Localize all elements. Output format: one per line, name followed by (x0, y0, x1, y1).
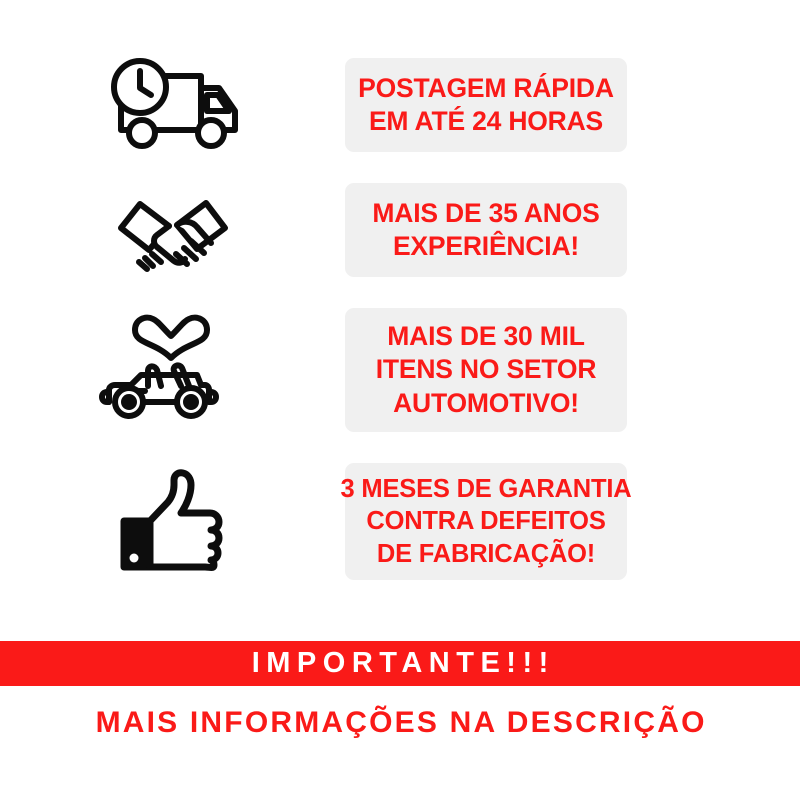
feature-line: EM ATÉ 24 HORAS (369, 105, 603, 138)
feature-row-warranty: 3 MESES DE GARANTIA CONTRA DEFEITOS DE F… (0, 463, 800, 580)
promo-banner-page: POSTAGEM RÁPIDA EM ATÉ 24 HORAS (0, 0, 800, 800)
car-heart-icon (0, 314, 345, 426)
feature-row-shipping: POSTAGEM RÁPIDA EM ATÉ 24 HORAS (0, 58, 800, 152)
feature-line: CONTRA DEFEITOS (366, 505, 605, 537)
feature-text-box-experience: MAIS DE 35 ANOS EXPERIÊNCIA! (345, 183, 627, 277)
feature-row-experience: MAIS DE 35 ANOS EXPERIÊNCIA! (0, 183, 800, 277)
important-banner-title: IMPORTANTE!!! (245, 649, 555, 678)
feature-line: ITENS NO SETOR (376, 353, 597, 386)
handshake-icon (0, 182, 345, 278)
thumbs-up-icon (0, 466, 345, 578)
delivery-truck-clock-icon (0, 57, 345, 153)
feature-line: MAIS DE 35 ANOS (372, 197, 599, 230)
banner-subtitle-area: MAIS INFORMAÇÕES NA DESCRIÇÃO (0, 700, 800, 746)
feature-line: MAIS DE 30 MIL (387, 320, 584, 353)
feature-line: DE FABRICAÇÃO! (377, 538, 595, 570)
banner-subtitle: MAIS INFORMAÇÕES NA DESCRIÇÃO (93, 708, 706, 738)
feature-text-box-warranty: 3 MESES DE GARANTIA CONTRA DEFEITOS DE F… (345, 463, 627, 580)
features-list: POSTAGEM RÁPIDA EM ATÉ 24 HORAS (0, 0, 800, 620)
feature-text-box-shipping: POSTAGEM RÁPIDA EM ATÉ 24 HORAS (345, 58, 627, 152)
feature-line: 3 MESES DE GARANTIA (341, 473, 632, 505)
feature-text-box-catalog: MAIS DE 30 MIL ITENS NO SETOR AUTOMOTIVO… (345, 308, 627, 432)
feature-line: AUTOMOTIVO! (393, 387, 579, 420)
feature-line: POSTAGEM RÁPIDA (358, 72, 614, 105)
feature-line: EXPERIÊNCIA! (393, 230, 579, 263)
important-banner-bar: IMPORTANTE!!! (0, 641, 800, 686)
feature-row-catalog: MAIS DE 30 MIL ITENS NO SETOR AUTOMOTIVO… (0, 308, 800, 432)
